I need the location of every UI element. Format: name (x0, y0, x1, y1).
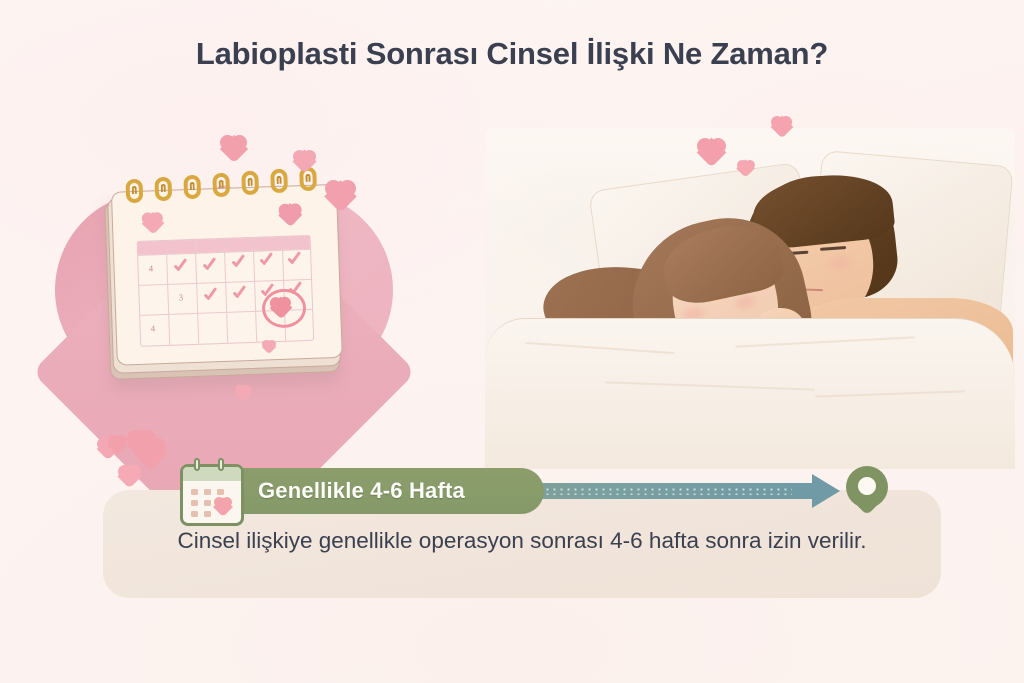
floating-heart-icon (737, 160, 755, 177)
heart-icon (278, 203, 303, 226)
floating-heart-icon (771, 116, 793, 136)
check-icon (172, 258, 187, 276)
duvet (485, 318, 1015, 469)
floating-heart-icon (262, 340, 276, 353)
check-icon (258, 252, 273, 270)
spiral-ring (270, 169, 288, 194)
floating-heart-icon (135, 438, 167, 468)
check-icon (230, 254, 245, 272)
calendar-day-number: 4 (148, 263, 153, 273)
check-icon (286, 251, 301, 269)
timeline-track: Genellikle 4-6 Hafta (172, 478, 862, 504)
timeline-badge-label: Genellikle 4-6 Hafta (258, 478, 465, 504)
spiral-ring (125, 179, 143, 204)
floating-heart-icon (325, 180, 357, 210)
spiral-ring (183, 175, 201, 200)
page-title: Labioplasti Sonrası Cinsel İlişki Ne Zam… (0, 36, 1024, 72)
calendar-heart-icon (180, 464, 244, 526)
spiral-ring (154, 177, 172, 202)
floating-heart-icon (108, 435, 128, 453)
calendar-page: 4 3 4 (111, 184, 341, 364)
check-icon (201, 257, 216, 275)
heart-icon (142, 212, 165, 233)
arrow-head-icon (812, 474, 840, 508)
calendar-day-number: 4 (151, 323, 156, 333)
calendar-grid: 4 3 4 (137, 235, 315, 347)
floating-heart-icon (235, 385, 251, 400)
infographic-canvas: Labioplasti Sonrası Cinsel İlişki Ne Zam… (0, 0, 1024, 683)
spiral-ring (241, 171, 259, 196)
timeline-dots (502, 487, 792, 495)
map-pin-icon (846, 466, 888, 518)
floating-heart-icon (293, 150, 317, 172)
card-caption: Cinsel ilişkiye genellikle operasyon son… (128, 524, 916, 558)
heart-icon (214, 497, 233, 515)
couple-in-bed-illustration (485, 128, 1015, 463)
check-icon (231, 285, 246, 303)
spiral-ring (212, 173, 230, 198)
heart-calendar-illustration: 4 3 4 (45, 140, 425, 460)
floating-heart-icon (220, 135, 248, 161)
heart-icon (270, 297, 293, 318)
floating-heart-icon (118, 465, 142, 487)
check-icon (202, 287, 217, 305)
floating-heart-icon (697, 138, 727, 166)
calendar-day-number: 3 (178, 292, 183, 302)
timeline-badge[interactable]: Genellikle 4-6 Hafta (234, 468, 544, 514)
calendar-pad: 4 3 4 (104, 184, 338, 374)
